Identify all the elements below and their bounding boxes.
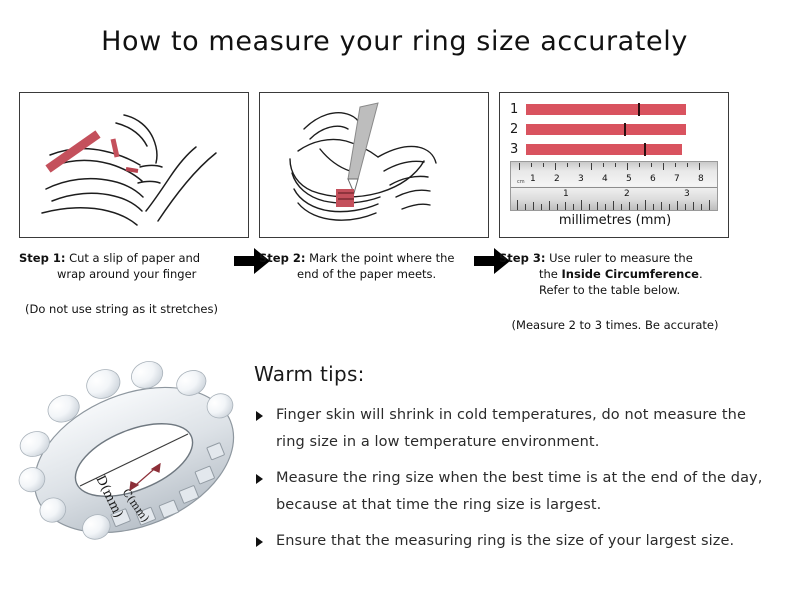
step-2-line2: end of the paper meets. xyxy=(259,266,491,282)
paper-strip-small xyxy=(126,169,138,171)
ruler-cm-6: 6 xyxy=(650,175,656,184)
step-2-caption: Step 2: Mark the point where the end of … xyxy=(259,250,491,282)
ring-figure: D(mm) C(mm) xyxy=(18,352,250,576)
tip-item: Ensure that the measuring ring is the si… xyxy=(254,528,774,555)
step-2-label: Step 2: xyxy=(259,251,305,265)
step-3-line2-suffix: . xyxy=(699,267,703,281)
tip-item: Measure the ring size when the best time… xyxy=(254,465,774,519)
step-3-column: 1 2 3 xyxy=(499,92,731,333)
strip-number-2: 2 xyxy=(510,123,526,136)
ruler-cm-5: 5 xyxy=(626,175,632,184)
ruler-inch-1: 1 xyxy=(563,190,569,199)
strip-number-3: 3 xyxy=(510,143,526,156)
step-1-panel xyxy=(19,92,249,238)
hand-marking-strip-illustration xyxy=(260,93,488,237)
strip-number-1: 1 xyxy=(510,103,526,116)
step-1-caption: Step 1: Cut a slip of paper and wrap aro… xyxy=(19,250,251,282)
step-3-emphasis: Inside Circumference xyxy=(562,267,699,281)
ruler-cm-8: 8 xyxy=(698,175,704,184)
ruler-inch-2: 2 xyxy=(624,190,630,199)
step-3-line1: Use ruler to measure the xyxy=(549,251,693,265)
step-2-column: Step 2: Mark the point where the end of … xyxy=(259,92,491,282)
tip-text: Finger skin will shrink in cold temperat… xyxy=(276,407,746,450)
ruler-cm-unit: cm xyxy=(517,178,525,187)
ruler-cm-7: 7 xyxy=(674,175,680,184)
ruler-unit-caption: millimetres (mm) xyxy=(500,213,729,228)
warm-tips-section: Warm tips: Finger skin will shrink in co… xyxy=(254,362,774,564)
ring-diagram-illustration: D(mm) C(mm) xyxy=(18,352,250,576)
hand-with-paper-strip-illustration xyxy=(20,93,248,237)
step-3-caption: Step 3: Use ruler to measure the the Ins… xyxy=(499,250,731,298)
triangle-bullet-icon xyxy=(256,537,263,547)
warm-tips-heading: Warm tips: xyxy=(254,362,774,386)
paper-strip-3 xyxy=(526,144,682,155)
measured-strip-row-2: 2 xyxy=(510,123,686,136)
steps-row: Step 1: Cut a slip of paper and wrap aro… xyxy=(0,92,789,342)
measured-strip-row-3: 3 xyxy=(510,143,682,156)
step-2-panel xyxy=(259,92,489,238)
step-3-panel: 1 2 3 xyxy=(499,92,729,238)
paper-strip-on-finger xyxy=(113,139,117,157)
triangle-bullet-icon xyxy=(256,474,263,484)
step-1-label: Step 1: xyxy=(19,251,65,265)
ruler-cm-4: 4 xyxy=(602,175,608,184)
step-3-line2: the Inside Circumference. xyxy=(499,266,731,282)
step-1-line2: wrap around your finger xyxy=(19,266,251,282)
tip-text: Ensure that the measuring ring is the si… xyxy=(276,533,734,549)
paper-strip-2 xyxy=(526,124,686,135)
ruler-cm-1: 1 xyxy=(530,175,536,184)
paper-strip-wrapped xyxy=(336,189,354,207)
page-title: How to measure your ring size accurately xyxy=(0,26,789,57)
ruler-cm-3: 3 xyxy=(578,175,584,184)
strip-mark-3 xyxy=(644,143,646,156)
step-3-line2-prefix: the xyxy=(539,267,562,281)
tip-text: Measure the ring size when the best time… xyxy=(276,470,762,513)
ruler-divider xyxy=(511,187,717,188)
ruler-graphic: cm 1 2 3 4 5 6 7 8 1 2 3 xyxy=(510,161,718,211)
step-3-note: (Measure 2 to 3 times. Be accurate) xyxy=(499,318,731,333)
step-1-note: (Do not use string as it stretches) xyxy=(19,302,251,317)
step-3-line3: Refer to the table below. xyxy=(499,282,731,298)
paper-strip-1 xyxy=(526,104,686,115)
strip-mark-2 xyxy=(624,123,626,136)
measured-strip-row-1: 1 xyxy=(510,103,686,116)
step-1-line1: Cut a slip of paper and xyxy=(69,251,200,265)
paper-strip-diagonal xyxy=(48,134,98,169)
strip-mark-1 xyxy=(638,103,640,116)
step-2-line1: Mark the point where the xyxy=(309,251,454,265)
step-1-column: Step 1: Cut a slip of paper and wrap aro… xyxy=(19,92,251,317)
triangle-bullet-icon xyxy=(256,411,263,421)
step-3-label: Step 3: xyxy=(499,251,545,265)
ruler-cm-2: 2 xyxy=(554,175,560,184)
tip-item: Finger skin will shrink in cold temperat… xyxy=(254,402,774,456)
ruler-inch-3: 3 xyxy=(684,190,690,199)
